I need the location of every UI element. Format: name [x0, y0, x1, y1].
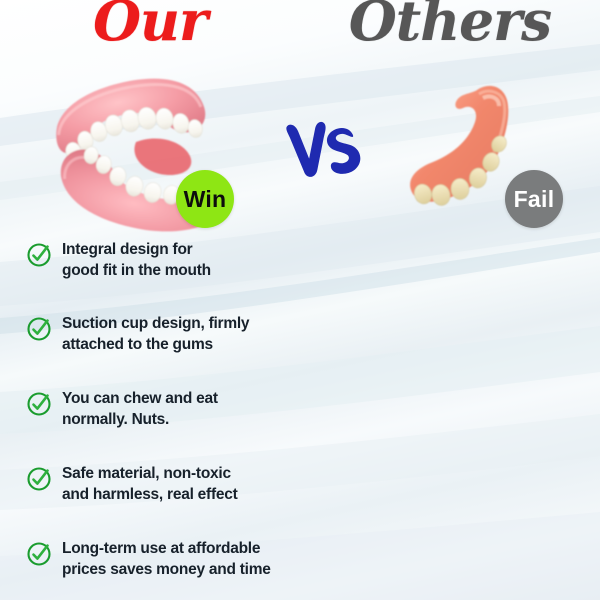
pro-cell: Safe material, non-toxic and harmless, r… — [0, 464, 340, 520]
status-badge-win: Win — [176, 170, 234, 228]
pro-text: Integral design for good fit in the mout… — [62, 240, 211, 281]
con-cell: Split design, upper and lower incisors o… — [340, 240, 600, 296]
comparison-row: Suction cup design, firmly attached to t… — [0, 314, 600, 370]
comparison-row: Safe material, non-toxic and harmless, r… — [0, 464, 600, 520]
green-check-circle-icon — [26, 316, 52, 342]
pro-text: Safe material, non-toxic and harmless, r… — [62, 464, 238, 505]
pro-cell: Long-term use at affordable prices saves… — [0, 539, 340, 595]
pro-cell: Suction cup design, firmly attached to t… — [0, 314, 340, 370]
pro-text: You can chew and eat normally. Nuts. — [62, 389, 218, 430]
green-check-circle-icon — [26, 466, 52, 492]
pro-text: Suction cup design, firmly attached to t… — [62, 314, 249, 355]
pro-text: Long-term use at affordable prices saves… — [62, 539, 271, 580]
pro-cell: You can chew and eat normally. Nuts. — [0, 389, 340, 445]
green-check-circle-icon — [26, 391, 52, 417]
column-header-others: Others — [300, 0, 600, 53]
infographic-canvas: Our Others — [0, 0, 600, 600]
con-cell: Troublesome to clean, easy to collect di… — [340, 539, 600, 595]
comparison-row: Integral design for good fit in the mout… — [0, 240, 600, 296]
comparison-row: Long-term use at affordable prices saves… — [0, 539, 600, 595]
status-badge-fail: Fail — [505, 170, 563, 228]
con-cell: Plastic material, strong smell, false ef… — [340, 464, 600, 520]
pro-cell: Integral design for good fit in the mout… — [0, 240, 340, 296]
column-header-ours: Our — [0, 0, 300, 53]
comparison-rows: Integral design for good fit in the mout… — [0, 238, 600, 600]
green-check-circle-icon — [26, 541, 52, 567]
product-image-our-denture-set — [40, 72, 270, 237]
comparison-row: You can chew and eat normally. Nuts. Can… — [0, 389, 600, 445]
versus-mark — [284, 112, 364, 182]
con-cell: Needs adhesive, comes off very easily — [340, 314, 600, 370]
green-check-circle-icon — [26, 242, 52, 268]
con-cell: Cannot be chewed, only used for decorati… — [340, 389, 600, 445]
